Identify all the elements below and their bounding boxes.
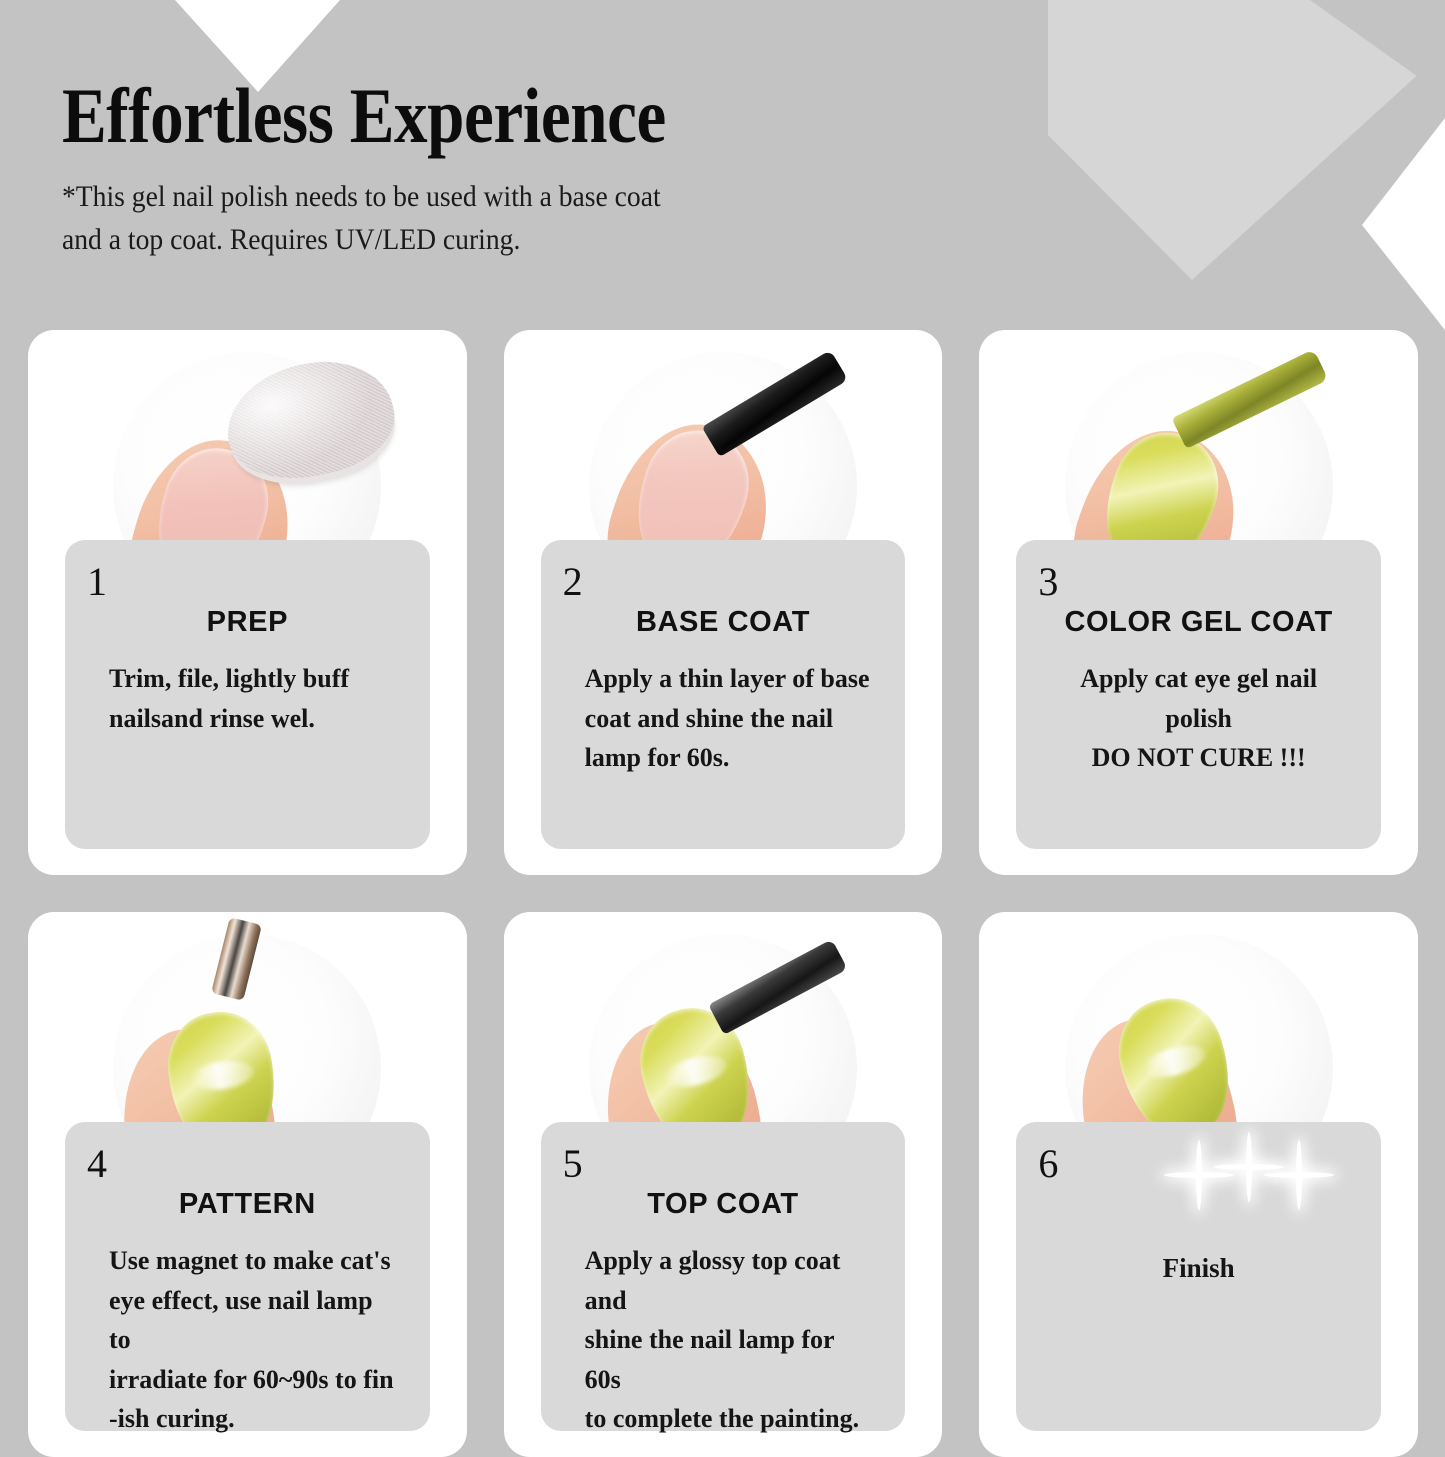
step-description: Apply a glossy top coat and shine the na… <box>571 1241 876 1439</box>
step-info-panel-4: 4 PATTERN Use magnet to make cat's eye e… <box>65 1122 430 1431</box>
top-right-outer-white <box>1310 0 1445 96</box>
cat-eye-streak <box>188 1057 256 1093</box>
steps-grid: 1 PREP Trim, file, lightly buff nailsand… <box>28 330 1418 1457</box>
step-title: PATTERN <box>95 1188 400 1221</box>
header: Effortless Experience *This gel nail pol… <box>62 78 1062 262</box>
step-title: BASE COAT <box>571 606 876 639</box>
top-right-white-notch <box>1362 118 1445 330</box>
brush-icon <box>1172 349 1329 449</box>
sparkle-group <box>1016 1130 1381 1210</box>
step-description: Finish <box>1046 1248 1351 1289</box>
step-card-6[interactable]: 6 Finish <box>979 912 1418 1457</box>
magnet-bar-icon <box>211 917 262 1001</box>
page-subtitle: *This gel nail polish needs to be used w… <box>62 176 982 261</box>
step-title: TOP COAT <box>571 1188 876 1221</box>
step-info-panel-5: 5 TOP COAT Apply a glossy top coat and s… <box>541 1122 906 1431</box>
step-number: 1 <box>87 562 107 602</box>
step-number: 3 <box>1038 562 1058 602</box>
step-number: 4 <box>87 1144 107 1184</box>
step-info-panel-1: 1 PREP Trim, file, lightly buff nailsand… <box>65 540 430 849</box>
step-card-3[interactable]: 3 COLOR GEL COAT Apply cat eye gel nail … <box>979 330 1418 875</box>
sparkle-icon <box>1264 1140 1334 1210</box>
step-card-1[interactable]: 1 PREP Trim, file, lightly buff nailsand… <box>28 330 467 875</box>
step-title: PREP <box>95 606 400 639</box>
step-info-panel-2: 2 BASE COAT Apply a thin layer of base c… <box>541 540 906 849</box>
step-description: Use magnet to make cat's eye effect, use… <box>95 1241 400 1439</box>
step-title: COLOR GEL COAT <box>1046 606 1351 639</box>
step-description: Apply cat eye gel nail polish DO NOT CUR… <box>1046 659 1351 778</box>
step-description: Trim, file, lightly buff nailsand rinse … <box>95 659 400 738</box>
step-info-panel-6: 6 Finish <box>1016 1122 1381 1431</box>
brush-icon <box>708 939 848 1035</box>
step-number: 5 <box>563 1144 583 1184</box>
step-card-5[interactable]: 5 TOP COAT Apply a glossy top coat and s… <box>504 912 943 1457</box>
cat-eye-streak <box>1140 1039 1210 1083</box>
step-number: 2 <box>563 562 583 602</box>
step-info-panel-3: 3 COLOR GEL COAT Apply cat eye gel nail … <box>1016 540 1381 849</box>
step-card-4[interactable]: 4 PATTERN Use magnet to make cat's eye e… <box>28 912 467 1457</box>
step-description: Apply a thin layer of base coat and shin… <box>571 659 876 778</box>
step-card-2[interactable]: 2 BASE COAT Apply a thin layer of base c… <box>504 330 943 875</box>
cat-eye-streak <box>661 1050 730 1092</box>
top-right-light-chevron <box>1048 0 1445 280</box>
page-title: Effortless Experience <box>62 78 922 154</box>
brush-icon <box>701 350 848 457</box>
